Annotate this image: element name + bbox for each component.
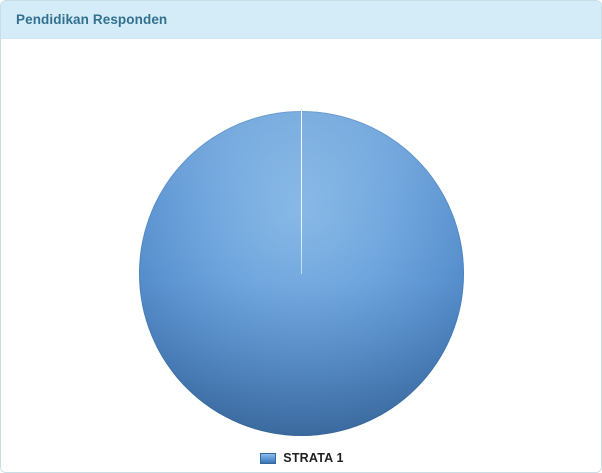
pie-chart [1, 39, 602, 434]
card-header: Pendidikan Responden [1, 1, 601, 39]
chart-legend: STRATA 1 [1, 452, 602, 465]
legend-item[interactable]: STRATA 1 [260, 452, 343, 465]
legend-color-swatch-icon [260, 453, 276, 464]
chart-card: Pendidikan Responden STRATA 1 [0, 0, 602, 473]
legend-item-label: STRATA 1 [283, 452, 343, 465]
pie-slice-separator [301, 111, 303, 274]
page-title: Pendidikan Responden [16, 13, 167, 27]
card-body: STRATA 1 [1, 39, 601, 473]
pie-canvas [139, 111, 464, 436]
